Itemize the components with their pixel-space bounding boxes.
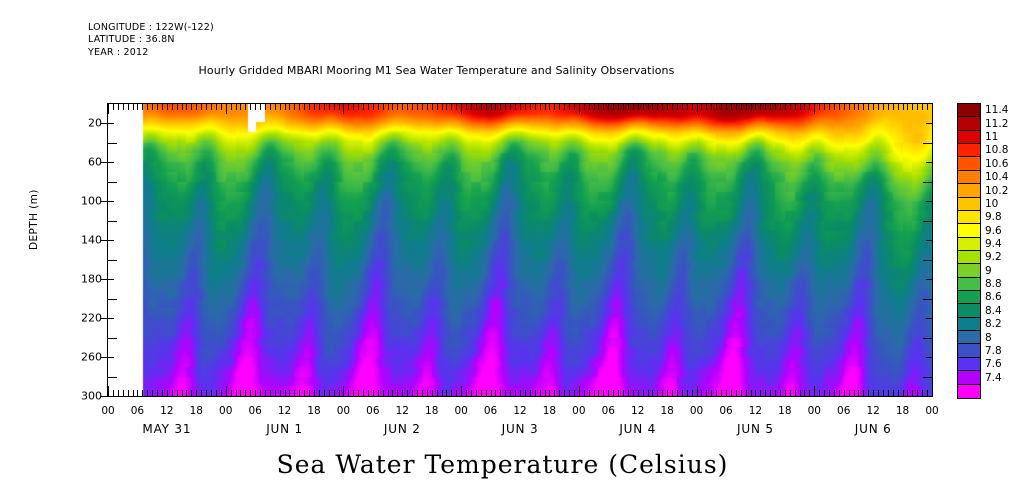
tick-mark <box>618 104 619 110</box>
tick-mark <box>907 390 908 396</box>
tick-mark <box>926 279 932 280</box>
tick-mark <box>456 390 457 396</box>
tick-mark <box>240 104 241 110</box>
tick-mark <box>221 104 222 110</box>
tick-mark <box>378 390 379 396</box>
tick-mark <box>319 104 320 110</box>
tick-mark <box>834 390 835 396</box>
tick-mark <box>397 390 398 396</box>
tick-mark <box>442 390 443 396</box>
tick-mark <box>196 390 197 396</box>
x-axis-day-labels: MAY 31JUN 1JUN 2JUN 3JUN 4JUN 5JUN 6 <box>0 422 1009 440</box>
tick-mark <box>804 390 805 396</box>
tick-mark <box>108 143 117 144</box>
colorbar-band <box>958 104 980 117</box>
tick-mark <box>177 104 178 110</box>
tick-mark <box>579 104 580 114</box>
colorbar-band <box>958 318 980 331</box>
tick-mark <box>339 104 340 110</box>
x-axis-hour-label: 06 <box>602 405 615 417</box>
tick-mark <box>167 104 168 110</box>
tick-mark <box>878 390 879 396</box>
x-axis-hour-label: 18 <box>543 405 556 417</box>
tick-mark <box>108 201 114 202</box>
tick-mark <box>540 104 541 110</box>
tick-mark <box>108 240 114 241</box>
tick-mark <box>633 104 634 110</box>
tick-mark <box>339 390 340 396</box>
tick-mark <box>819 390 820 396</box>
colorbar-tick-label: 10.2 <box>985 185 1008 197</box>
x-axis-hour-label: 00 <box>925 405 938 417</box>
tick-mark <box>324 390 325 396</box>
tick-mark <box>795 104 796 110</box>
tick-mark <box>926 123 932 124</box>
tick-mark <box>515 390 516 396</box>
tick-mark <box>706 390 707 396</box>
tick-mark <box>701 390 702 396</box>
colorbar-band <box>958 224 980 237</box>
tick-mark <box>535 390 536 396</box>
tick-mark <box>888 390 889 396</box>
tick-mark <box>466 390 467 396</box>
tick-mark <box>926 201 932 202</box>
tick-mark <box>657 390 658 396</box>
chart-caption: Sea Water Temperature (Celsius) <box>0 450 1009 479</box>
tick-mark <box>446 104 447 110</box>
tick-mark <box>643 390 644 396</box>
tick-mark <box>142 390 143 396</box>
tick-mark <box>373 390 374 396</box>
tick-mark <box>854 104 855 110</box>
tick-mark <box>500 390 501 396</box>
tick-mark <box>108 260 117 261</box>
tick-mark <box>137 390 138 396</box>
tick-mark <box>137 104 138 110</box>
tick-mark <box>873 104 874 110</box>
tick-mark <box>500 104 501 110</box>
tick-mark <box>589 104 590 110</box>
tick-mark <box>201 104 202 110</box>
tick-mark <box>824 390 825 396</box>
tick-mark <box>466 104 467 110</box>
tick-mark <box>878 104 879 110</box>
x-axis-hour-label: 06 <box>366 405 379 417</box>
tick-mark <box>162 104 163 110</box>
tick-mark <box>633 390 634 396</box>
tick-mark <box>491 104 492 110</box>
tick-mark <box>157 390 158 396</box>
page-title: Hourly Gridded MBARI Mooring M1 Sea Wate… <box>0 64 1009 77</box>
tick-mark <box>294 390 295 396</box>
y-axis-tick-label: 140 <box>81 234 102 247</box>
tick-mark <box>363 390 364 396</box>
y-axis-tick-label: 60 <box>88 156 102 169</box>
tick-mark <box>353 390 354 396</box>
colorbar-band <box>958 251 980 264</box>
tick-mark <box>603 390 604 396</box>
tick-mark <box>172 104 173 110</box>
tick-mark <box>926 318 932 319</box>
tick-mark <box>804 104 805 110</box>
tick-mark <box>378 104 379 110</box>
tick-mark <box>755 390 756 396</box>
tick-mark <box>471 104 472 110</box>
colorbar-band <box>958 278 980 291</box>
tick-mark <box>746 104 747 110</box>
tick-mark <box>299 104 300 110</box>
tick-mark <box>711 104 712 110</box>
x-axis-hour-label: 12 <box>866 405 879 417</box>
tick-mark <box>839 390 840 396</box>
tick-mark <box>265 390 266 396</box>
colorbar-tick-label: 8.6 <box>985 291 1002 303</box>
tick-mark <box>545 390 546 396</box>
tick-mark <box>481 390 482 396</box>
tick-mark <box>260 390 261 396</box>
tick-mark <box>133 390 134 396</box>
tick-mark <box>692 390 693 396</box>
colorbar-band <box>958 344 980 357</box>
tick-mark <box>525 390 526 396</box>
tick-mark <box>373 104 374 110</box>
tick-mark <box>932 104 933 114</box>
x-axis-day-label: JUN 1 <box>266 422 303 436</box>
tick-mark <box>907 104 908 110</box>
tick-mark <box>525 104 526 110</box>
tick-mark <box>608 104 609 110</box>
tick-mark <box>309 104 310 110</box>
tick-mark <box>569 104 570 110</box>
tick-mark <box>108 299 117 300</box>
tick-mark <box>726 104 727 110</box>
tick-mark <box>108 396 114 397</box>
tick-mark <box>324 104 325 110</box>
tick-mark <box>309 390 310 396</box>
tick-mark <box>638 390 639 396</box>
tick-mark <box>520 104 521 110</box>
tick-mark <box>603 104 604 110</box>
tick-mark <box>427 390 428 396</box>
tick-mark <box>554 104 555 110</box>
tick-mark <box>662 390 663 396</box>
tick-mark <box>152 390 153 396</box>
tick-mark <box>613 390 614 396</box>
y-axis-tick-label: 300 <box>81 390 102 403</box>
tick-mark <box>270 390 271 396</box>
tick-mark <box>162 390 163 396</box>
x-axis-hour-label: 06 <box>131 405 144 417</box>
tick-mark <box>873 390 874 396</box>
tick-mark <box>564 104 565 110</box>
tick-mark <box>926 357 932 358</box>
tick-mark <box>437 390 438 396</box>
tick-mark <box>770 390 771 396</box>
tick-mark <box>598 104 599 110</box>
colorbar-tick-label: 7.8 <box>985 345 1002 357</box>
tick-mark <box>623 104 624 110</box>
tick-mark <box>682 390 683 396</box>
tick-mark <box>280 104 281 110</box>
tick-mark <box>795 390 796 396</box>
tick-mark <box>912 104 913 110</box>
colorbar-tick-label: 7.4 <box>985 372 1002 384</box>
tick-mark <box>932 386 933 396</box>
x-axis-hour-label: 00 <box>101 405 114 417</box>
tick-mark <box>923 377 932 378</box>
tick-mark <box>746 390 747 396</box>
tick-mark <box>495 390 496 396</box>
tick-mark <box>692 104 693 110</box>
tick-mark <box>211 104 212 110</box>
tick-mark <box>343 104 344 114</box>
colorbar-band <box>958 117 980 130</box>
colorbar-band <box>958 385 980 398</box>
tick-mark <box>182 390 183 396</box>
tick-mark <box>147 104 148 110</box>
tick-mark <box>402 390 403 396</box>
tick-mark <box>142 104 143 110</box>
tick-mark <box>451 104 452 110</box>
tick-mark <box>505 390 506 396</box>
tick-mark <box>652 104 653 110</box>
tick-mark <box>814 104 815 114</box>
tick-mark <box>250 390 251 396</box>
tick-mark <box>652 390 653 396</box>
tick-mark <box>118 390 119 396</box>
tick-mark <box>177 390 178 396</box>
tick-mark <box>731 104 732 110</box>
tick-mark <box>923 143 932 144</box>
tick-mark <box>108 104 109 114</box>
tick-mark <box>613 104 614 110</box>
tick-mark <box>559 390 560 396</box>
tick-mark <box>579 386 580 396</box>
colorbar-tick-label: 11.4 <box>985 104 1008 116</box>
colorbar-tick-label: 7.6 <box>985 358 1002 370</box>
tick-mark <box>481 104 482 110</box>
x-axis-hour-label: 12 <box>631 405 644 417</box>
tick-mark <box>858 390 859 396</box>
y-axis-tick-label: 260 <box>81 351 102 364</box>
tick-mark <box>108 221 117 222</box>
tick-mark <box>765 390 766 396</box>
tick-mark <box>476 104 477 110</box>
tick-mark <box>697 386 698 396</box>
tick-mark <box>530 104 531 110</box>
tick-mark <box>741 104 742 110</box>
colorbar-tick-label: 10.8 <box>985 144 1008 156</box>
tick-mark <box>569 390 570 396</box>
tick-mark <box>108 123 114 124</box>
colorbar-tick-label: 11 <box>985 131 998 143</box>
tick-mark <box>883 390 884 396</box>
tick-mark <box>329 390 330 396</box>
tick-mark <box>206 390 207 396</box>
x-axis-hour-label: 00 <box>337 405 350 417</box>
tick-mark <box>559 104 560 110</box>
year-text: YEAR : 2012 <box>88 47 149 58</box>
tick-mark <box>731 390 732 396</box>
tick-mark <box>922 390 923 396</box>
y-axis-tick-label: 220 <box>81 312 102 325</box>
tick-mark <box>917 390 918 396</box>
x-axis-hour-label: 00 <box>219 405 232 417</box>
tick-mark <box>255 104 256 110</box>
tick-mark <box>388 390 389 396</box>
tick-mark <box>211 390 212 396</box>
tick-mark <box>755 104 756 110</box>
tick-mark <box>240 390 241 396</box>
tick-mark <box>618 390 619 396</box>
tick-mark <box>736 390 737 396</box>
tick-mark <box>701 104 702 110</box>
colorbar-tick-label: 9.6 <box>985 225 1002 237</box>
tick-mark <box>216 104 217 110</box>
x-axis-hour-label: 18 <box>778 405 791 417</box>
tick-mark <box>446 390 447 396</box>
tick-mark <box>800 104 801 110</box>
tick-mark <box>299 390 300 396</box>
tick-mark <box>289 104 290 110</box>
tick-mark <box>334 104 335 110</box>
tick-mark <box>584 390 585 396</box>
tick-mark <box>304 104 305 110</box>
heatmap-canvas <box>108 104 932 396</box>
temperature-contour-plot <box>107 103 933 397</box>
tick-mark <box>133 104 134 110</box>
tick-mark <box>108 182 117 183</box>
tick-mark <box>927 104 928 110</box>
colorbar-tick-label: 8.4 <box>985 305 1002 317</box>
tick-mark <box>334 390 335 396</box>
tick-mark <box>765 104 766 110</box>
colorbar-tick-label: 9.4 <box>985 238 1002 250</box>
x-axis-hour-label: 00 <box>808 405 821 417</box>
x-axis-hour-labels: 0006121800061218000612180006121800061218… <box>0 405 1009 421</box>
tick-mark <box>809 390 810 396</box>
tick-mark <box>191 390 192 396</box>
tick-mark <box>432 104 433 110</box>
colorbar-band <box>958 198 980 211</box>
tick-mark <box>800 390 801 396</box>
tick-mark <box>628 390 629 396</box>
colorbar-band <box>958 157 980 170</box>
tick-mark <box>868 390 869 396</box>
colorbar-band <box>958 238 980 251</box>
tick-mark <box>461 104 462 114</box>
x-axis-hour-label: 00 <box>690 405 703 417</box>
colorbar-band <box>958 184 980 197</box>
tick-mark <box>682 104 683 110</box>
tick-mark <box>790 390 791 396</box>
tick-mark <box>407 104 408 110</box>
tick-mark <box>123 390 124 396</box>
tick-mark <box>285 390 286 396</box>
tick-mark <box>314 390 315 396</box>
tick-mark <box>216 390 217 396</box>
tick-mark <box>549 390 550 396</box>
x-axis-hour-label: 12 <box>396 405 409 417</box>
colorbar-band <box>958 144 980 157</box>
tick-mark <box>236 104 237 110</box>
tick-mark <box>437 104 438 110</box>
tick-mark <box>535 104 536 110</box>
tick-mark <box>923 182 932 183</box>
tick-mark <box>760 104 761 110</box>
tick-mark <box>677 390 678 396</box>
x-axis-hour-label: 12 <box>513 405 526 417</box>
tick-mark <box>304 390 305 396</box>
tick-mark <box>397 104 398 110</box>
tick-mark <box>231 104 232 110</box>
tick-mark <box>108 338 117 339</box>
tick-mark <box>358 390 359 396</box>
colorbar-tick-label: 8.8 <box>985 278 1002 290</box>
tick-mark <box>383 104 384 110</box>
x-axis-day-label: JUN 2 <box>384 422 421 436</box>
colorbar-tick-label: 10 <box>985 198 998 210</box>
tick-mark <box>667 390 668 396</box>
tick-mark <box>186 104 187 110</box>
tick-mark <box>275 390 276 396</box>
y-axis-title: DEPTH (m) <box>28 189 40 250</box>
tick-mark <box>721 390 722 396</box>
latitude-text: LATITUDE : 36.8N <box>88 34 175 45</box>
tick-mark <box>510 104 511 110</box>
tick-mark <box>923 338 932 339</box>
tick-mark <box>348 390 349 396</box>
tick-mark <box>236 390 237 396</box>
x-axis-hour-label: 18 <box>307 405 320 417</box>
tick-mark <box>564 390 565 396</box>
x-axis-hour-label: 00 <box>572 405 585 417</box>
colorbar-band <box>958 358 980 371</box>
colorbar-band <box>958 264 980 277</box>
tick-mark <box>657 104 658 110</box>
tick-mark <box>912 390 913 396</box>
tick-mark <box>432 390 433 396</box>
tick-mark <box>152 104 153 110</box>
tick-mark <box>711 390 712 396</box>
tick-mark <box>108 162 114 163</box>
tick-mark <box>898 104 899 110</box>
tick-mark <box>545 104 546 110</box>
tick-mark <box>353 104 354 110</box>
tick-mark <box>608 390 609 396</box>
tick-mark <box>157 104 158 110</box>
tick-mark <box>486 104 487 110</box>
tick-mark <box>697 104 698 114</box>
tick-mark <box>726 390 727 396</box>
tick-mark <box>849 104 850 110</box>
y-axis-tick-label: 180 <box>81 273 102 286</box>
tick-mark <box>196 104 197 110</box>
tick-mark <box>319 390 320 396</box>
tick-mark <box>770 104 771 110</box>
tick-mark <box>844 390 845 396</box>
tick-mark <box>363 104 364 110</box>
x-axis-hour-label: 18 <box>190 405 203 417</box>
tick-mark <box>854 390 855 396</box>
x-axis-day-label: MAY 31 <box>142 422 191 436</box>
tick-mark <box>113 104 114 110</box>
colorbar-band <box>958 131 980 144</box>
tick-mark <box>716 104 717 110</box>
x-axis-hour-label: 06 <box>248 405 261 417</box>
tick-mark <box>672 104 673 110</box>
tick-mark <box>868 104 869 110</box>
